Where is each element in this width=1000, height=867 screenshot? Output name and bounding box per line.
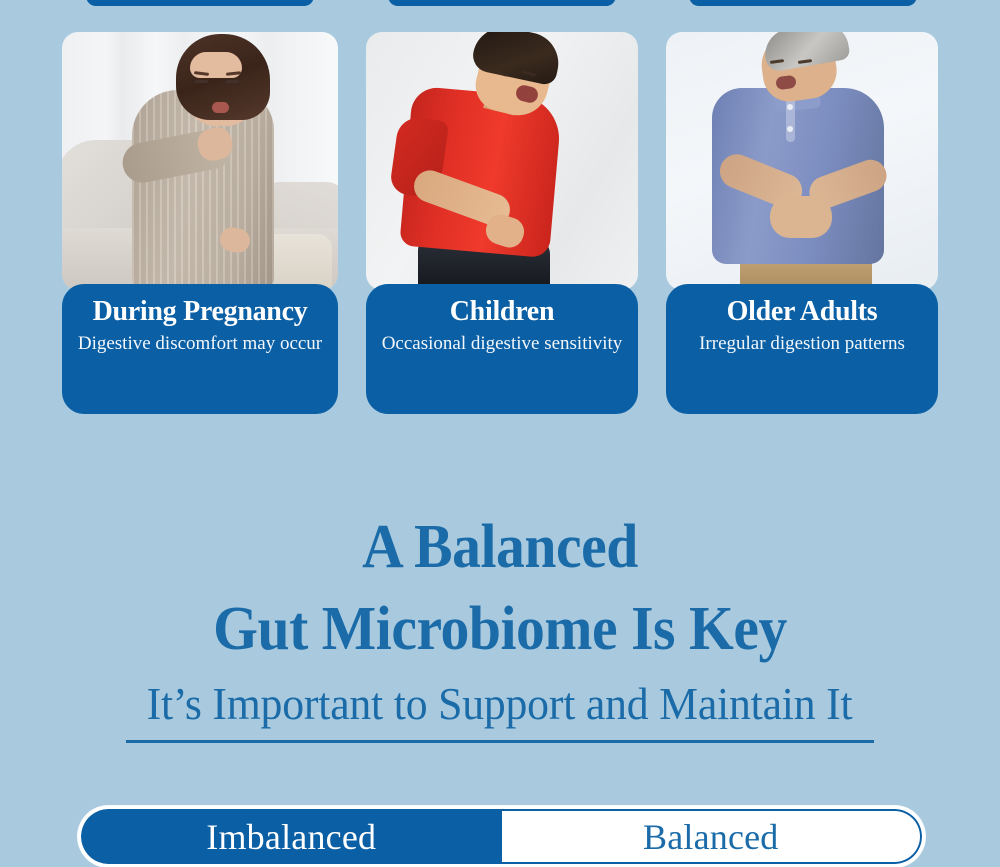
persona-card-row: During Pregnancy Digestive discomfort ma… [62,32,938,414]
persona-title: During Pregnancy [62,295,338,329]
persona-card-older-adults[interactable]: Older Adults Irregular digestion pattern… [666,32,938,414]
persona-photo-child [366,32,638,290]
persona-title: Older Adults [666,295,938,329]
persona-label-plate: During Pregnancy Digestive discomfort ma… [62,284,338,414]
persona-label-plate: Older Adults Irregular digestion pattern… [666,284,938,414]
persona-card-during-pregnancy[interactable]: During Pregnancy Digestive discomfort ma… [62,32,338,414]
previous-card-pill-2 [388,0,616,6]
hero-line-1: A Balanced [35,506,965,588]
persona-card-children[interactable]: Children Occasional digestive sensitivit… [366,32,638,414]
hero-subtitle: It’s Important to Support and Maintain I… [147,676,853,732]
previous-row-partial [0,0,1000,6]
persona-title: Children [366,295,638,329]
hero-line-2: Gut Microbiome Is Key [35,588,965,670]
persona-subtitle: Irregular digestion patterns [666,332,938,355]
persona-subtitle: Occasional digestive sensitivity [366,332,638,355]
previous-card-pill-1 [86,0,314,6]
persona-label-plate: Children Occasional digestive sensitivit… [366,284,638,414]
persona-subtitle: Digestive discomfort may occur [62,332,338,355]
toggle-option-imbalanced[interactable]: Imbalanced [81,809,502,864]
balance-toggle[interactable]: Imbalanced Balanced [78,806,925,867]
persona-photo-older-adult [666,32,938,290]
persona-photo-pregnant-woman [62,32,338,290]
hero-heading-block: A Balanced Gut Microbiome Is Key It’s Im… [0,506,1000,743]
previous-card-pill-3 [689,0,917,6]
hero-subtitle-underline: It’s Important to Support and Maintain I… [126,676,873,743]
toggle-option-balanced[interactable]: Balanced [502,809,923,864]
